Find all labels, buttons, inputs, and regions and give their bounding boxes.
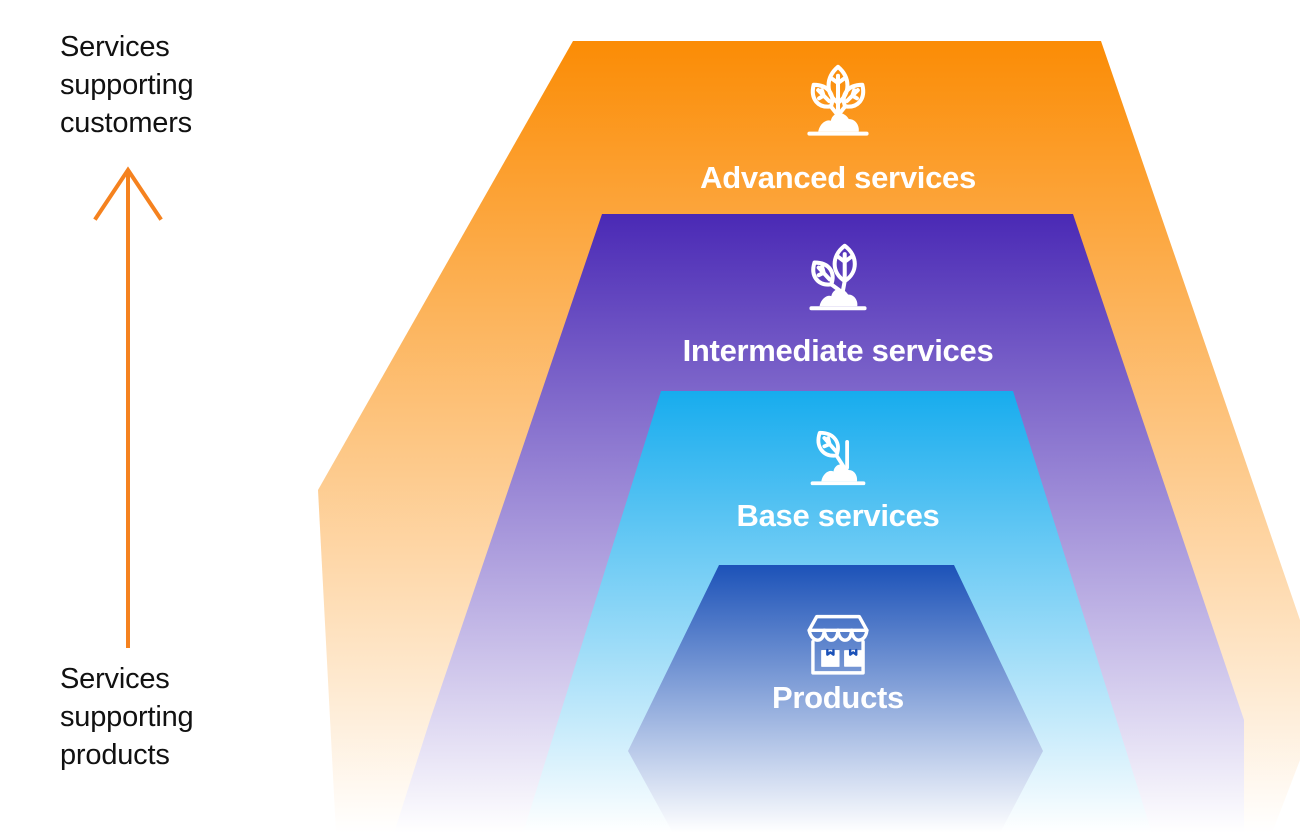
plant-one-leaf-icon (800, 416, 876, 492)
plant-three-leaves-icon (793, 56, 883, 146)
axis-label-bottom: Services supporting products (60, 660, 300, 774)
plant-two-leaves-icon (796, 234, 880, 318)
tier-label-intermediate-services[interactable]: Intermediate services (683, 333, 994, 369)
direction-arrow (88, 160, 188, 650)
diagram-canvas: Services supporting customers Services s… (0, 0, 1300, 833)
axis-label-top: Services supporting customers (60, 28, 300, 142)
storefront-icon (800, 606, 876, 682)
tier-label-advanced-services[interactable]: Advanced services (700, 160, 976, 196)
tier-label-products[interactable]: Products (772, 680, 904, 716)
tier-label-base-services[interactable]: Base services (737, 498, 940, 534)
